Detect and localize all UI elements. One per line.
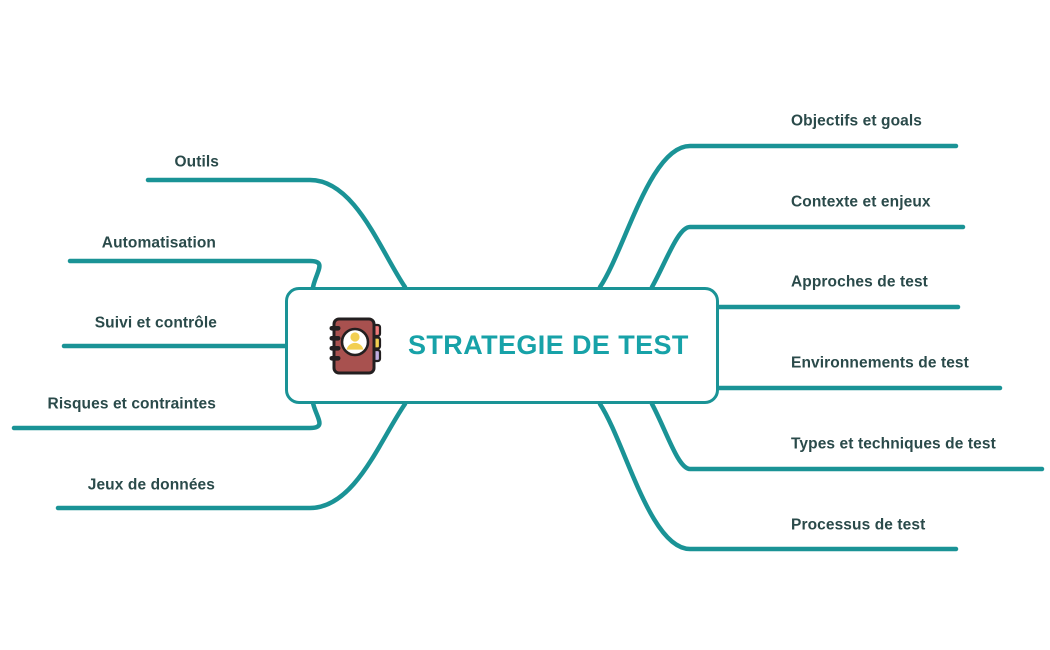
branch-label-approches-de-test[interactable]: Approches de test (791, 274, 928, 290)
branch-label-objectifs-et-goals[interactable]: Objectifs et goals (791, 113, 922, 129)
central-topic-label: STRATEGIE DE TEST (408, 330, 689, 361)
mindmap-canvas: OutilsAutomatisationSuivi et contrôleRis… (0, 0, 1050, 650)
branch-label-risques-et-contraintes[interactable]: Risques et contraintes (48, 396, 216, 412)
branch-label-suivi-et-controle[interactable]: Suivi et contrôle (95, 315, 217, 331)
branch-connector-objectifs-et-goals (600, 146, 956, 287)
branch-label-automatisation[interactable]: Automatisation (102, 235, 216, 251)
branch-label-types-et-techniques-de-test[interactable]: Types et techniques de test (791, 436, 996, 452)
address-book-icon (326, 315, 386, 377)
branch-label-processus-de-test[interactable]: Processus de test (791, 517, 925, 533)
branch-label-environnements-de-test[interactable]: Environnements de test (791, 355, 969, 371)
branch-label-jeux-de-donnees[interactable]: Jeux de données (88, 477, 215, 493)
central-topic-node[interactable]: STRATEGIE DE TEST (285, 287, 719, 404)
branch-label-contexte-et-enjeux[interactable]: Contexte et enjeux (791, 194, 931, 210)
branch-label-outils[interactable]: Outils (174, 154, 219, 170)
branch-connector-automatisation (70, 261, 319, 296)
